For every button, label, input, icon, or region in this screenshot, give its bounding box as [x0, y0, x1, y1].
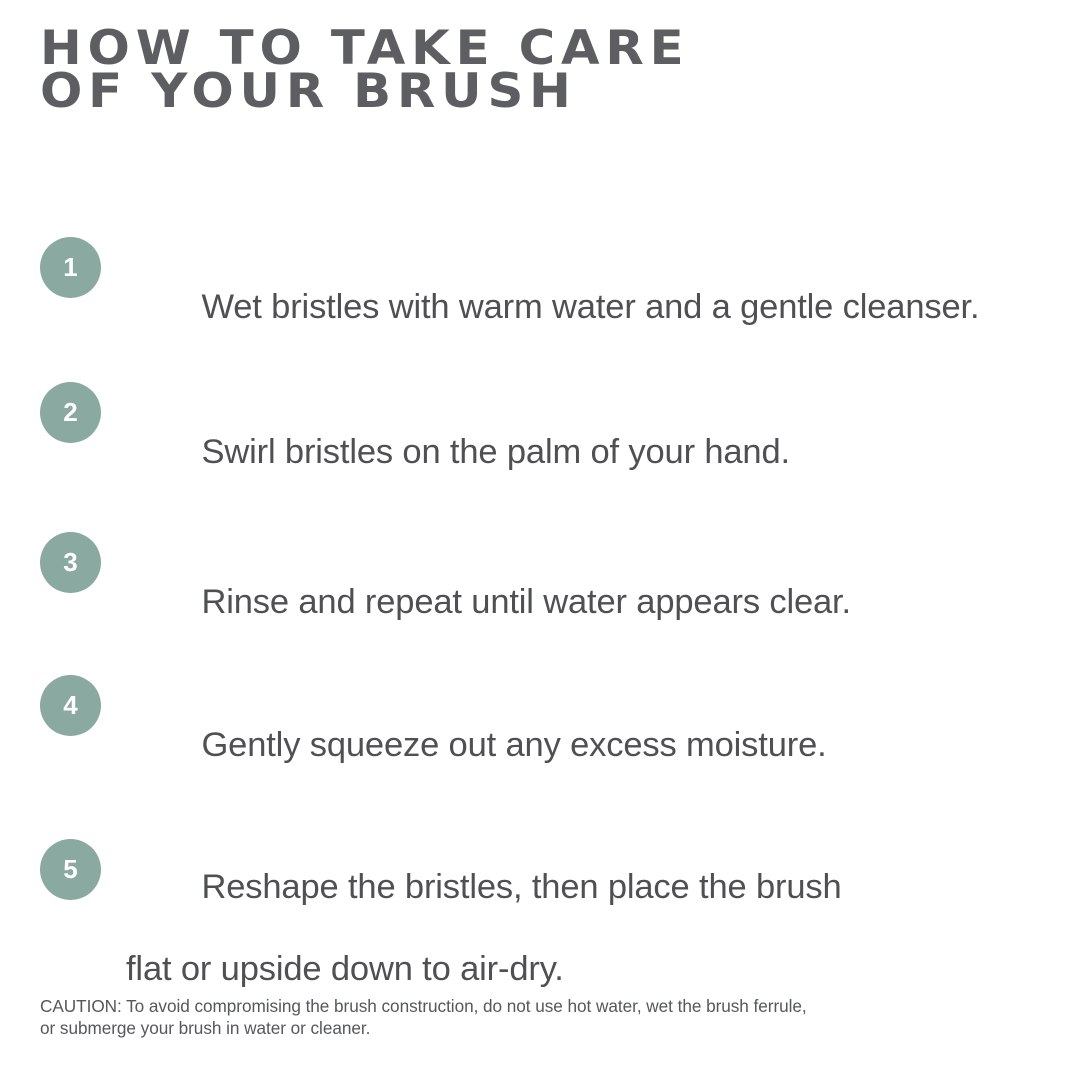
- step-text-5-line-1: Reshape the bristles, then place the bru…: [201, 868, 841, 906]
- step-number-badge-2: 2: [40, 382, 101, 443]
- step-text-3-line-1: Rinse and repeat until water appears cle…: [201, 583, 850, 621]
- list-item-step-2: 2 Swirl bristles on the palm of your han…: [40, 382, 1040, 444]
- step-text-4-line-1: Gently squeeze out any excess moisture.: [201, 726, 826, 764]
- caution-note-line-1: CAUTION: To avoid compromising the brush…: [40, 996, 1000, 1018]
- caution-note-line-2: or submerge your brush in water or clean…: [40, 1018, 1000, 1040]
- step-number-badge-1: 1: [40, 237, 101, 298]
- step-text-2: Swirl bristles on the palm of your hand.: [126, 391, 790, 514]
- care-instructions-card: HOW TO TAKE CARE OF YOUR BRUSH 1 Wet bri…: [0, 0, 1080, 1080]
- list-item-step-4: 4 Gently squeeze out any excess moisture…: [40, 675, 1040, 737]
- caution-note: CAUTION: To avoid compromising the brush…: [40, 996, 1000, 1039]
- page-title: HOW TO TAKE CARE OF YOUR BRUSH: [40, 27, 1000, 113]
- step-text-3: Rinse and repeat until water appears cle…: [126, 541, 851, 664]
- step-text-5-line-2: flat or upside down to air-dry.: [126, 949, 842, 990]
- page-title-line-2: OF YOUR BRUSH: [40, 70, 1058, 113]
- step-number-badge-4: 4: [40, 675, 101, 736]
- list-item-step-3: 3 Rinse and repeat until water appears c…: [40, 532, 1040, 594]
- step-text-1-line-1: Wet bristles with warm water and a gentl…: [201, 288, 979, 326]
- step-number-badge-5: 5: [40, 839, 101, 900]
- list-item-step-1: 1 Wet bristles with warm water and a gen…: [40, 237, 1040, 299]
- step-number-badge-3: 3: [40, 532, 101, 593]
- step-text-1: Wet bristles with warm water and a gentl…: [126, 246, 979, 369]
- step-text-2-line-1: Swirl bristles on the palm of your hand.: [201, 433, 789, 471]
- list-item-step-5: 5 Reshape the bristles, then place the b…: [40, 839, 1040, 901]
- step-text-4: Gently squeeze out any excess moisture.: [126, 684, 827, 807]
